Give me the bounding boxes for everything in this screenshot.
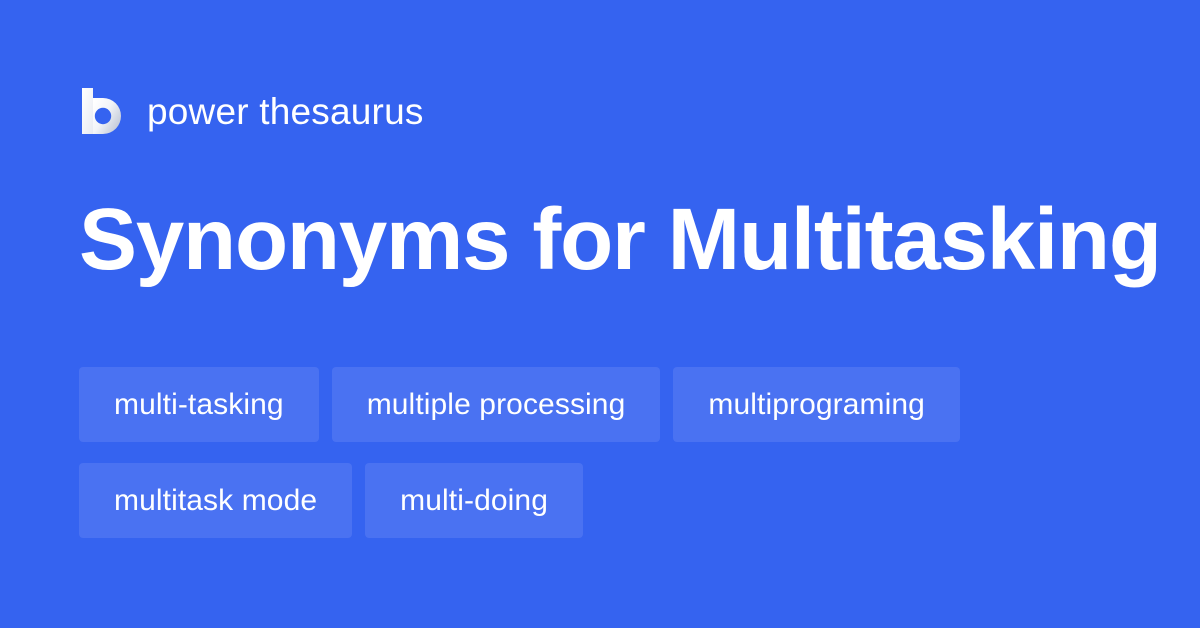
page-title: Synonyms for Multitasking <box>79 196 1161 283</box>
power-thesaurus-b-logo-icon <box>79 86 125 136</box>
synonym-chip[interactable]: multi-tasking <box>79 367 319 442</box>
brand-name: power thesaurus <box>147 93 424 130</box>
synonym-chip[interactable]: multiple processing <box>332 367 661 442</box>
brand-header[interactable]: power thesaurus <box>79 82 424 140</box>
synonym-chip[interactable]: multitask mode <box>79 463 352 538</box>
synonym-chip[interactable]: multi-doing <box>365 463 583 538</box>
synonym-chip-list: multi-tasking multiple processing multip… <box>79 367 1119 538</box>
synonym-chip[interactable]: multiprograming <box>673 367 960 442</box>
synonyms-card: power thesaurus Synonyms for Multitaskin… <box>0 0 1200 628</box>
